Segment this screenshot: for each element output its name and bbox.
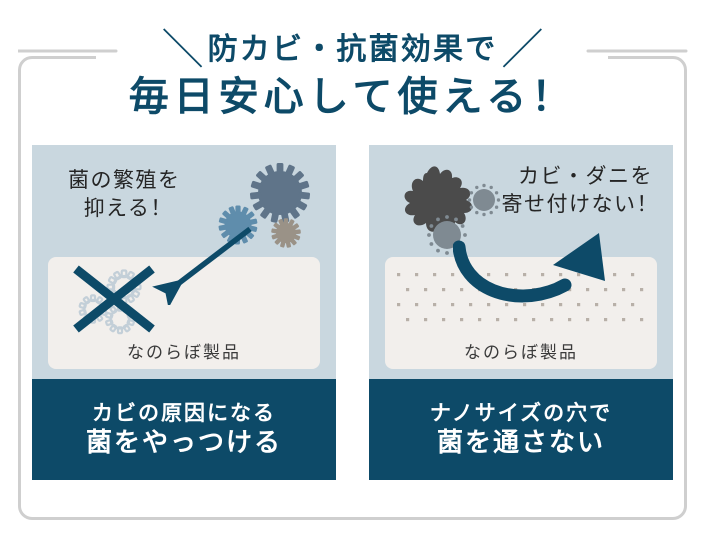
caption-right-line2: 菌を通さない bbox=[437, 428, 605, 457]
callout-right: カビ・ダニを 寄せ付けない！ bbox=[502, 163, 660, 220]
product-label-left: なのらぼ製品 bbox=[48, 344, 320, 361]
panel-body-right: カビ・ダニを 寄せ付けない！ bbox=[369, 145, 673, 379]
slash-right-icon: ／ bbox=[499, 29, 545, 71]
panel-container: 菌の繁殖を 抑える！ bbox=[32, 145, 673, 480]
panel-body-left: 菌の繁殖を 抑える！ bbox=[32, 145, 336, 379]
cross-out-icon bbox=[68, 261, 160, 337]
panel-anti-bacterial: 菌の繁殖を 抑える！ bbox=[32, 145, 336, 480]
header: ＼ 防カビ・抗菌効果で ／ 毎日安心して使える！ bbox=[0, 0, 705, 145]
infographic-root: ＼ 防カビ・抗菌効果で ／ 毎日安心して使える！ bbox=[0, 0, 705, 545]
curved-arrow-up-right-icon bbox=[453, 227, 633, 311]
panel-caption-right: ナノサイズの穴で 菌を通さない bbox=[369, 379, 673, 480]
panel-nano-pore: カビ・ダニを 寄せ付けない！ bbox=[369, 145, 673, 480]
kicker-text: 防カビ・抗菌効果で bbox=[206, 35, 500, 65]
panel-caption-left: カビの原因になる 菌をやっつける bbox=[32, 379, 336, 480]
caption-right-line1: ナノサイズの穴で bbox=[430, 402, 612, 425]
arrow-down-left-icon bbox=[150, 223, 260, 305]
page-title: 毎日安心して使える！ bbox=[0, 74, 705, 120]
caption-left-line2: 菌をやっつける bbox=[86, 428, 282, 457]
kicker-row: ＼ 防カビ・抗菌効果で ／ bbox=[0, 26, 705, 74]
callout-left-line2: 抑える！ bbox=[68, 195, 181, 223]
callout-left: 菌の繁殖を 抑える！ bbox=[68, 167, 181, 224]
slash-left-icon: ＼ bbox=[160, 29, 206, 71]
product-label-right: なのらぼ製品 bbox=[385, 344, 657, 361]
callout-right-line2: 寄せ付けない！ bbox=[502, 191, 660, 219]
callout-right-line1: カビ・ダニを bbox=[502, 163, 660, 191]
callout-left-line1: 菌の繁殖を bbox=[68, 169, 181, 192]
caption-left-line1: カビの原因になる bbox=[92, 402, 276, 425]
